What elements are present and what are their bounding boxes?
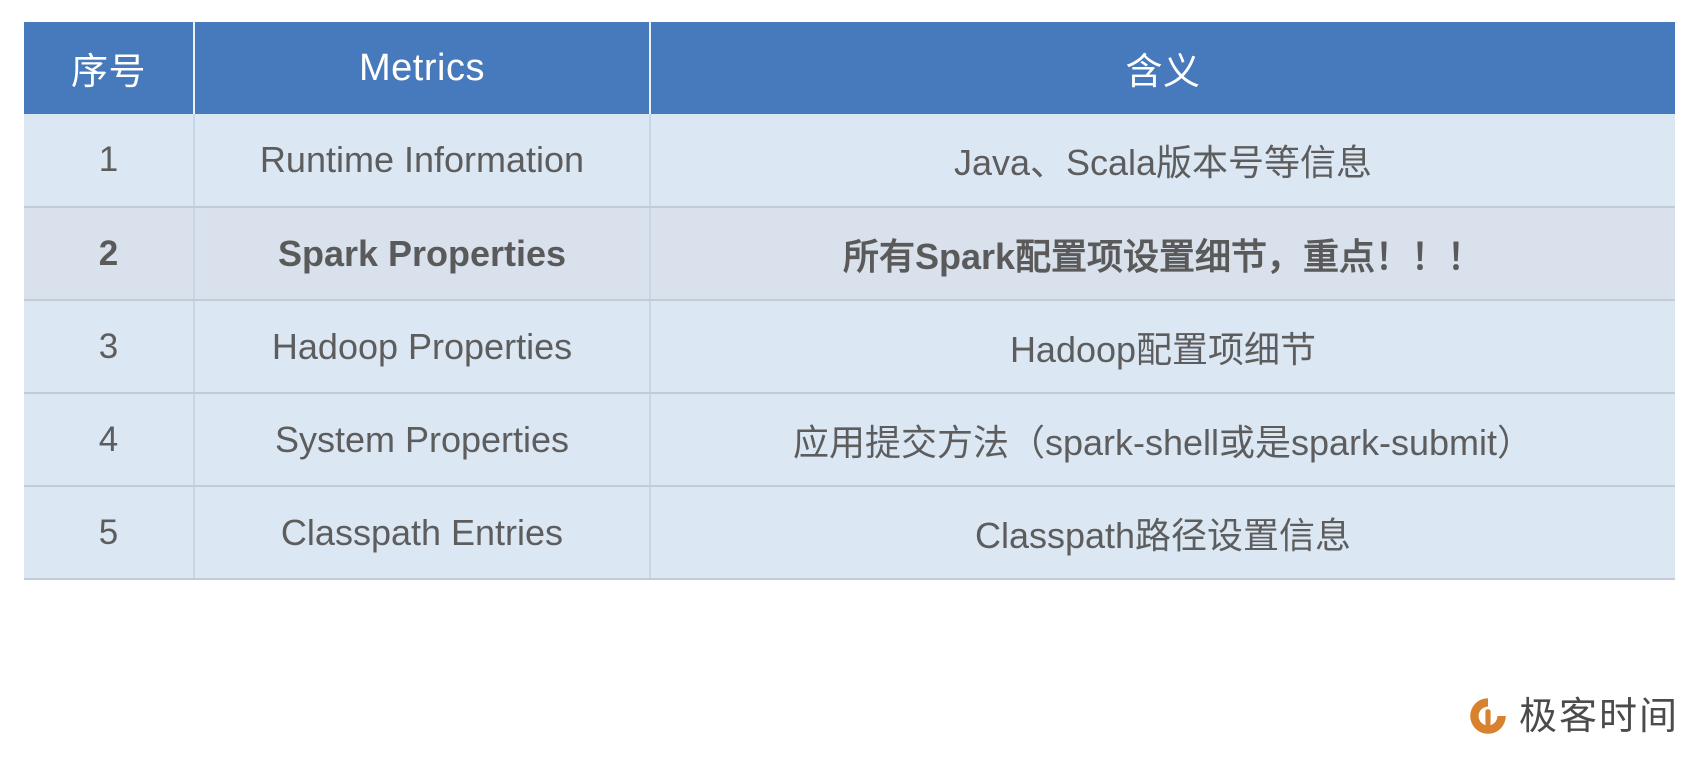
column-header-index: 序号 — [24, 22, 194, 114]
cell-index: 4 — [24, 393, 194, 486]
cell-index: 2 — [24, 207, 194, 300]
cell-metric: Spark Properties — [194, 207, 650, 300]
table-body: 1 Runtime Information Java、Scala版本号等信息 2… — [24, 114, 1675, 579]
cell-metric: System Properties — [194, 393, 650, 486]
table-header: 序号 Metrics 含义 — [24, 22, 1675, 114]
cell-metric: Runtime Information — [194, 114, 650, 207]
cell-meaning: Classpath路径设置信息 — [650, 486, 1675, 579]
cell-index: 3 — [24, 300, 194, 393]
brand-watermark: 极客时间 — [1467, 695, 1679, 737]
cell-metric: Classpath Entries — [194, 486, 650, 579]
cell-metric: Hadoop Properties — [194, 300, 650, 393]
table-row: 5 Classpath Entries Classpath路径设置信息 — [24, 486, 1675, 579]
cell-index: 1 — [24, 114, 194, 207]
cell-meaning: 所有Spark配置项设置细节，重点！！！ — [650, 207, 1675, 300]
table-header-row: 序号 Metrics 含义 — [24, 22, 1675, 114]
cell-meaning: Hadoop配置项细节 — [650, 300, 1675, 393]
table-row-emphasis: 2 Spark Properties 所有Spark配置项设置细节，重点！！！ — [24, 207, 1675, 300]
table-row: 4 System Properties 应用提交方法（spark-shell或是… — [24, 393, 1675, 486]
table-row: 1 Runtime Information Java、Scala版本号等信息 — [24, 114, 1675, 207]
cell-meaning: 应用提交方法（spark-shell或是spark-submit） — [650, 393, 1675, 486]
column-header-meaning: 含义 — [650, 22, 1675, 114]
cell-meaning: Java、Scala版本号等信息 — [650, 114, 1675, 207]
table-row: 3 Hadoop Properties Hadoop配置项细节 — [24, 300, 1675, 393]
metrics-table: 序号 Metrics 含义 1 Runtime Information Java… — [24, 22, 1675, 580]
geektime-logo-icon — [1467, 695, 1509, 737]
brand-name: 极客时间 — [1519, 697, 1679, 735]
column-header-metrics: Metrics — [194, 22, 650, 114]
page-canvas: 序号 Metrics 含义 1 Runtime Information Java… — [0, 0, 1699, 757]
cell-index: 5 — [24, 486, 194, 579]
